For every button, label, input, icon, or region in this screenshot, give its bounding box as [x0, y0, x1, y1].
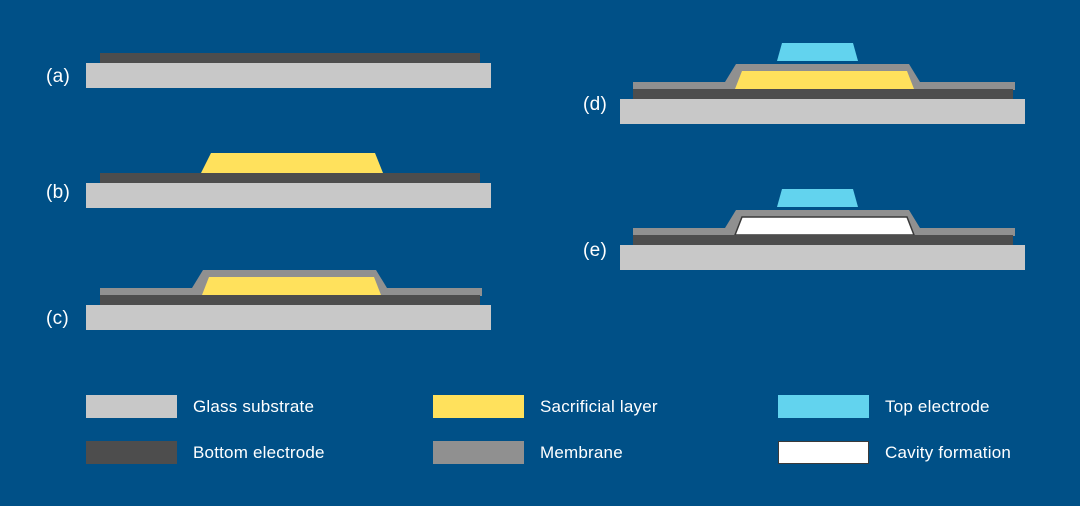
bottom-electrode-d — [633, 89, 1013, 99]
legend-label-top-electrode: Top electrode — [885, 397, 990, 417]
legend-swatch-cavity-formation — [778, 441, 869, 464]
legend-swatch-top-electrode — [778, 395, 869, 418]
legend-swatch-glass-substrate — [86, 395, 177, 418]
figure-canvas: (a) (b) (c) (d) — [0, 0, 1080, 506]
legend-item-glass-substrate: Glass substrate — [86, 395, 314, 418]
legend-label-bottom-electrode: Bottom electrode — [193, 443, 325, 463]
step-label-c: (c) — [46, 308, 69, 330]
legend-label-glass-substrate: Glass substrate — [193, 397, 314, 417]
bottom-electrode-c — [100, 295, 480, 305]
legend-label-sacrificial-layer: Sacrificial layer — [540, 397, 658, 417]
glass-substrate-b — [86, 183, 491, 208]
legend-item-top-electrode: Top electrode — [778, 395, 990, 418]
glass-substrate-c — [86, 305, 491, 330]
glass-substrate-a — [86, 63, 491, 88]
legend-label-cavity-formation: Cavity formation — [885, 443, 1011, 463]
bottom-electrode-e — [633, 235, 1013, 245]
legend-item-membrane: Membrane — [433, 441, 623, 464]
step-label-b: (b) — [46, 182, 70, 204]
step-label-e: (e) — [583, 240, 607, 262]
glass-substrate-e — [620, 245, 1025, 270]
legend-swatch-sacrificial-layer — [433, 395, 524, 418]
legend-item-bottom-electrode: Bottom electrode — [86, 441, 325, 464]
legend-item-sacrificial-layer: Sacrificial layer — [433, 395, 658, 418]
legend-item-cavity-formation: Cavity formation — [778, 441, 1011, 464]
legend-swatch-membrane — [433, 441, 524, 464]
legend-swatch-bottom-electrode — [86, 441, 177, 464]
legend-label-membrane: Membrane — [540, 443, 623, 463]
step-label-a: (a) — [46, 66, 70, 88]
glass-substrate-d — [620, 99, 1025, 124]
bottom-electrode-a — [100, 53, 480, 63]
legend: Glass substrate Bottom electrode Sacrifi… — [0, 380, 1080, 480]
bottom-electrode-b — [100, 173, 480, 183]
step-label-d: (d) — [583, 94, 607, 116]
